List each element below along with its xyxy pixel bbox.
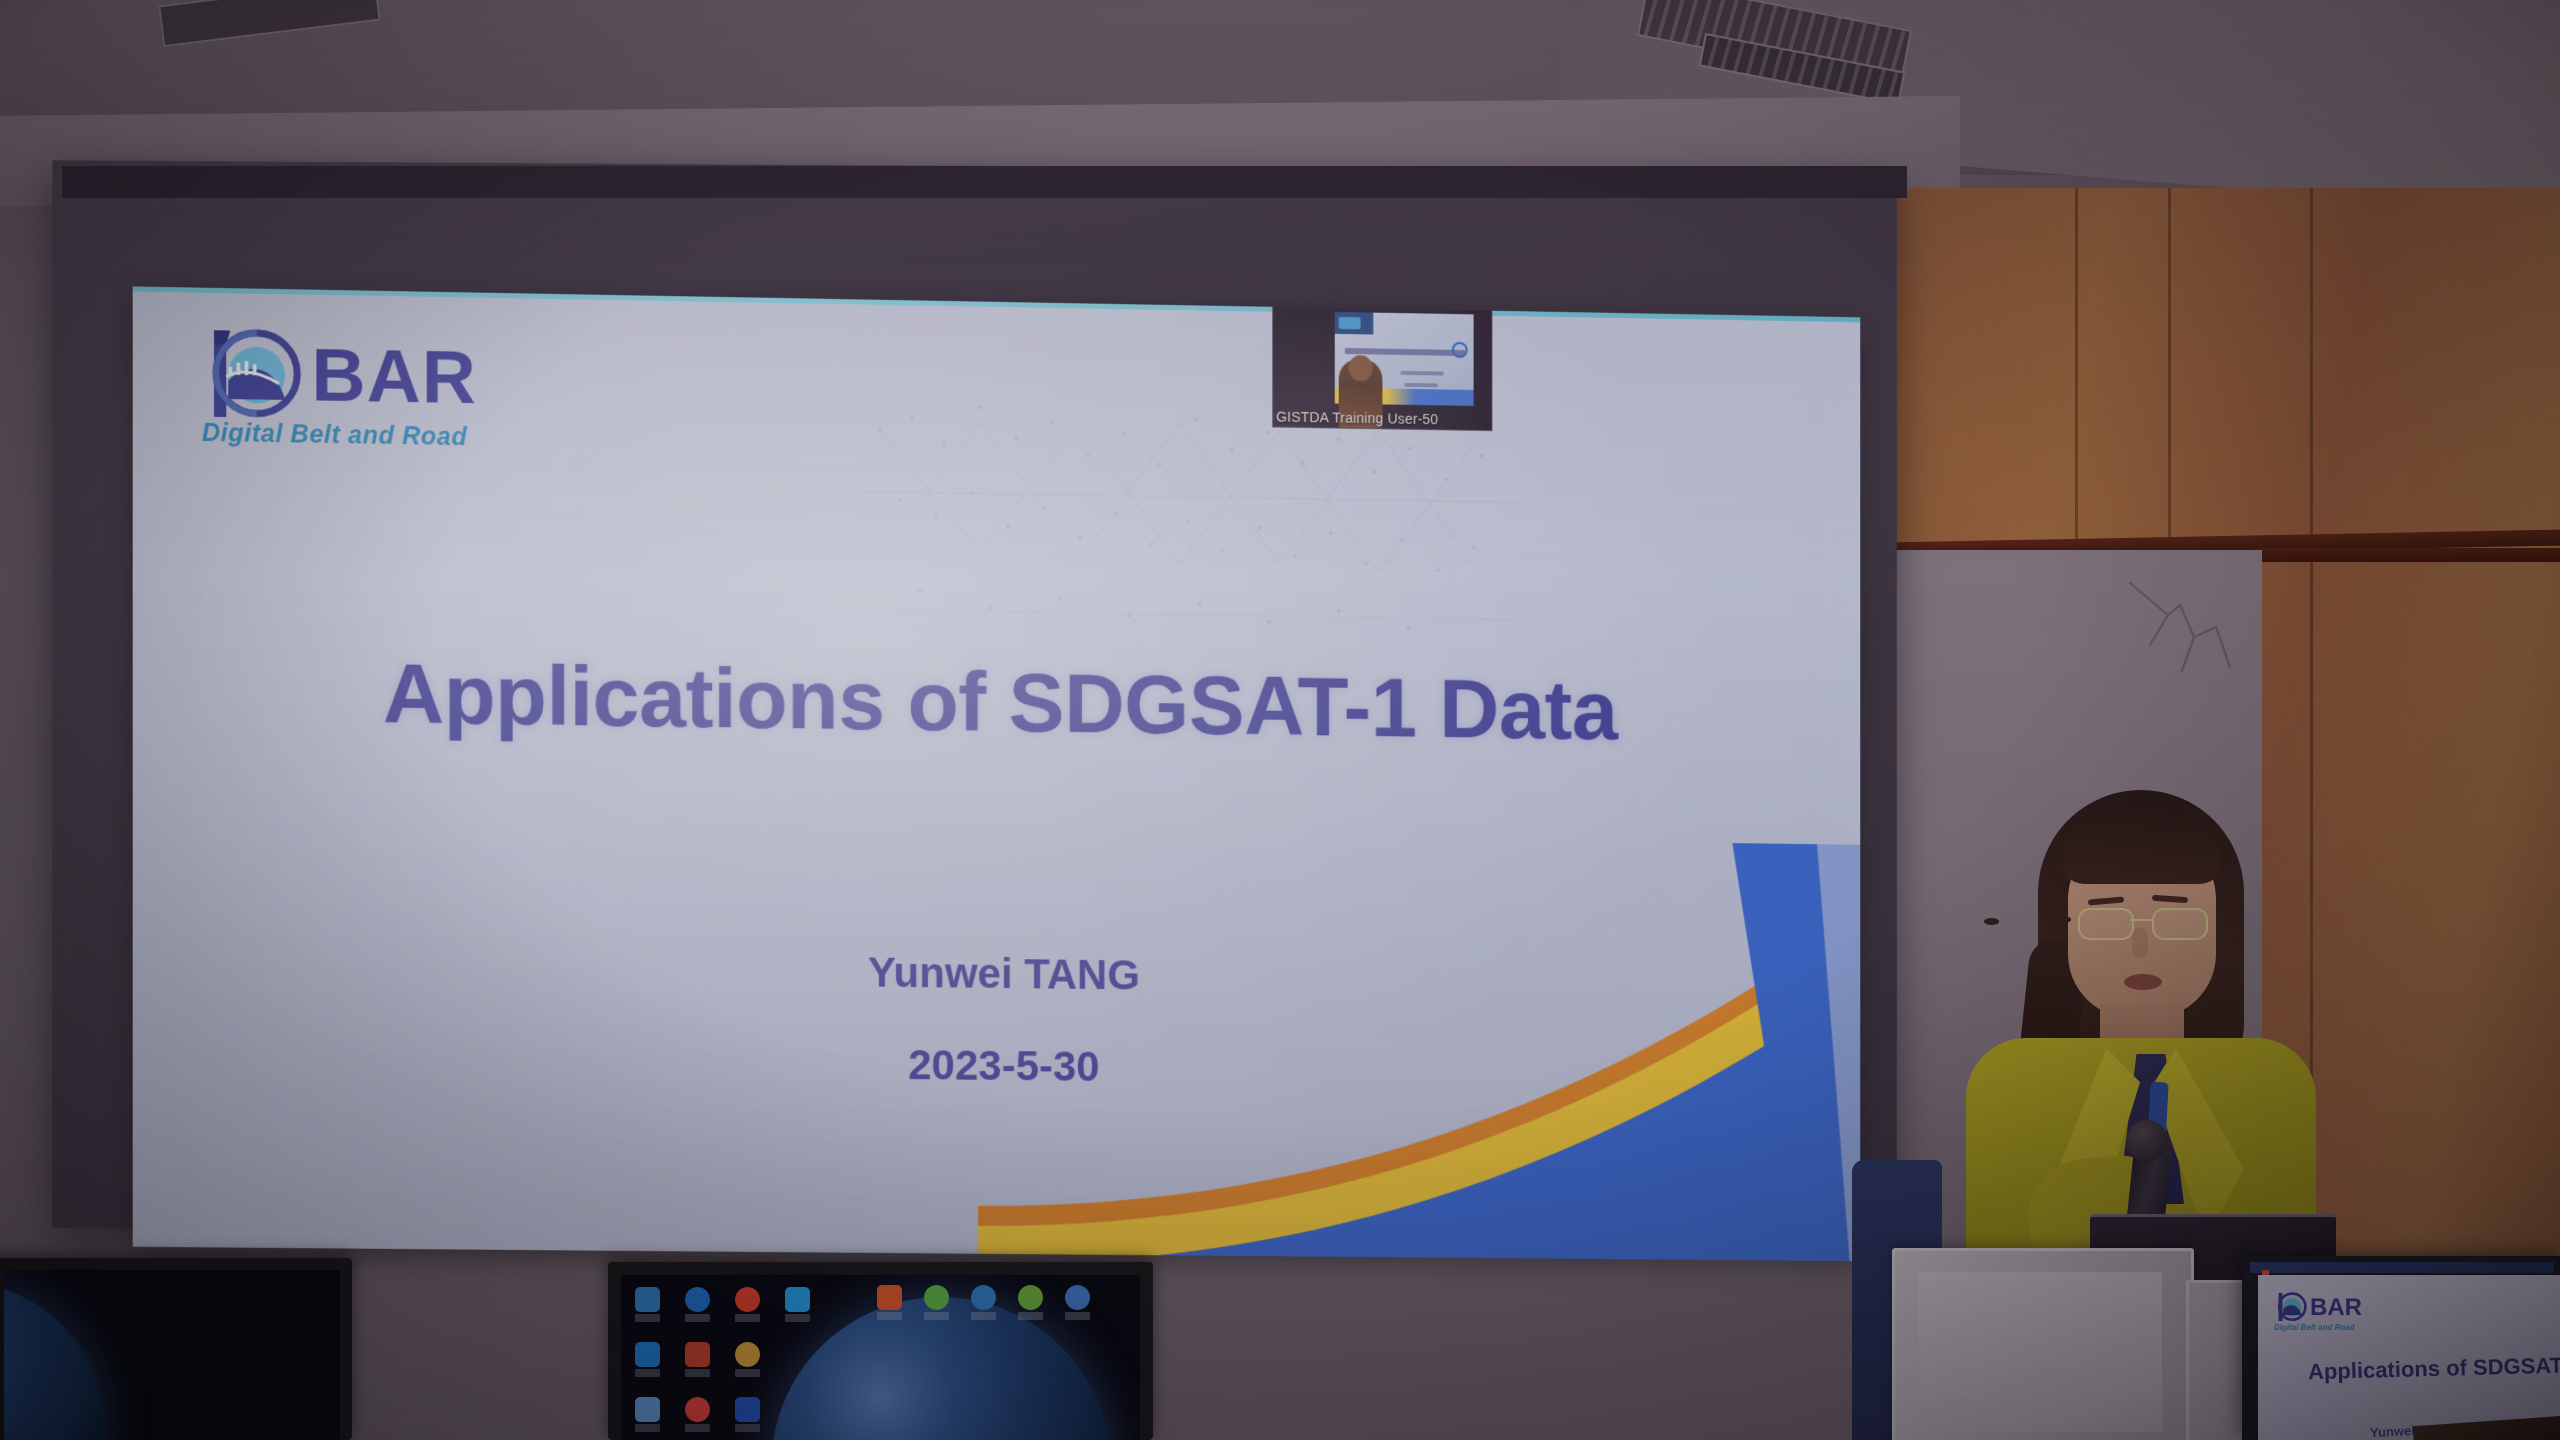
conference-room-scene: BAR Digital Belt and Road GISTDA Trainin… [0,0,2560,1440]
pip-secondary-thumb [1335,312,1374,335]
dbar-logo-mark-icon [200,318,306,425]
this-pc-icon[interactable] [635,1287,660,1322]
visual-studio-code-icon[interactable] [785,1287,810,1322]
wall-mark [2120,575,2250,695]
monitor-center-screen[interactable] [621,1275,1140,1440]
podium-front-panel [1918,1272,2162,1432]
cityengine-icon[interactable] [685,1287,710,1322]
presenter-mouth [2124,974,2162,990]
slide-title: Applications of SDGSAT-1 Data [133,642,1861,763]
logo-wordmark: BAR [311,338,476,415]
dbar-logo: BAR Digital Belt and Road [200,318,564,455]
powerpoint-icon[interactable] [685,1342,710,1377]
presenter-nose [2132,928,2148,958]
video-conference-pip[interactable]: GISTDA Training User-50 [1272,301,1492,431]
wall-trim-right [2255,548,2560,562]
presentation-slide: BAR Digital Belt and Road GISTDA Trainin… [133,286,1861,1261]
presenter-laptop: BAR Digital Belt and Road Applications o… [2242,1256,2560,1440]
presenter-eye-left [1984,918,1999,925]
arccatalog-icon[interactable] [735,1342,760,1377]
teamviewer-icon[interactable] [635,1342,660,1377]
laptop-titlebar [2250,1262,2554,1273]
opencv-icon[interactable] [735,1397,760,1432]
envi-icon[interactable] [924,1285,949,1320]
slide-ribbon-graphic [978,834,1860,1261]
google-chrome-icon[interactable] [685,1397,710,1432]
presenter-fringe [2062,812,2222,884]
laptop-logo-tagline: Digital Belt and Road [2274,1323,2354,1332]
projection-screen-top-edge [62,166,1907,198]
laptop-logo-wordmark: BAR [2310,1294,2362,1322]
logo-tagline: Digital Belt and Road [202,419,467,453]
monitor-left-screen[interactable] [4,1270,340,1440]
antivirus-icon[interactable] [735,1287,760,1322]
monitor-center [608,1262,1153,1440]
pip-remote-person-head [1349,355,1373,381]
laptop-keyboard[interactable] [2413,1416,2560,1440]
pip-remote-logo-icon [1452,342,1468,358]
google-earth-pro-icon[interactable] [1065,1285,1090,1320]
laptop-dbar-logo-icon [2274,1289,2308,1323]
presenter-eye-right [2056,916,2071,923]
pip-participant-label: GISTDA Training User-50 [1276,409,1438,428]
recycle-bin-icon[interactable] [635,1397,660,1432]
monitor-left [0,1258,352,1440]
earth-wallpaper [4,1282,104,1440]
desktop-icons-right-column [877,1285,1090,1320]
erdas-imagine-icon[interactable] [877,1285,902,1320]
arcscene-icon[interactable] [1018,1285,1043,1320]
laptop-slide-title: Applications of SDGSAT-1 Data [2308,1351,2560,1386]
desktop-icons-left-column [635,1287,815,1440]
laptop-screen[interactable]: BAR Digital Belt and Road Applications o… [2258,1275,2560,1440]
arcmap-icon[interactable] [971,1285,996,1320]
